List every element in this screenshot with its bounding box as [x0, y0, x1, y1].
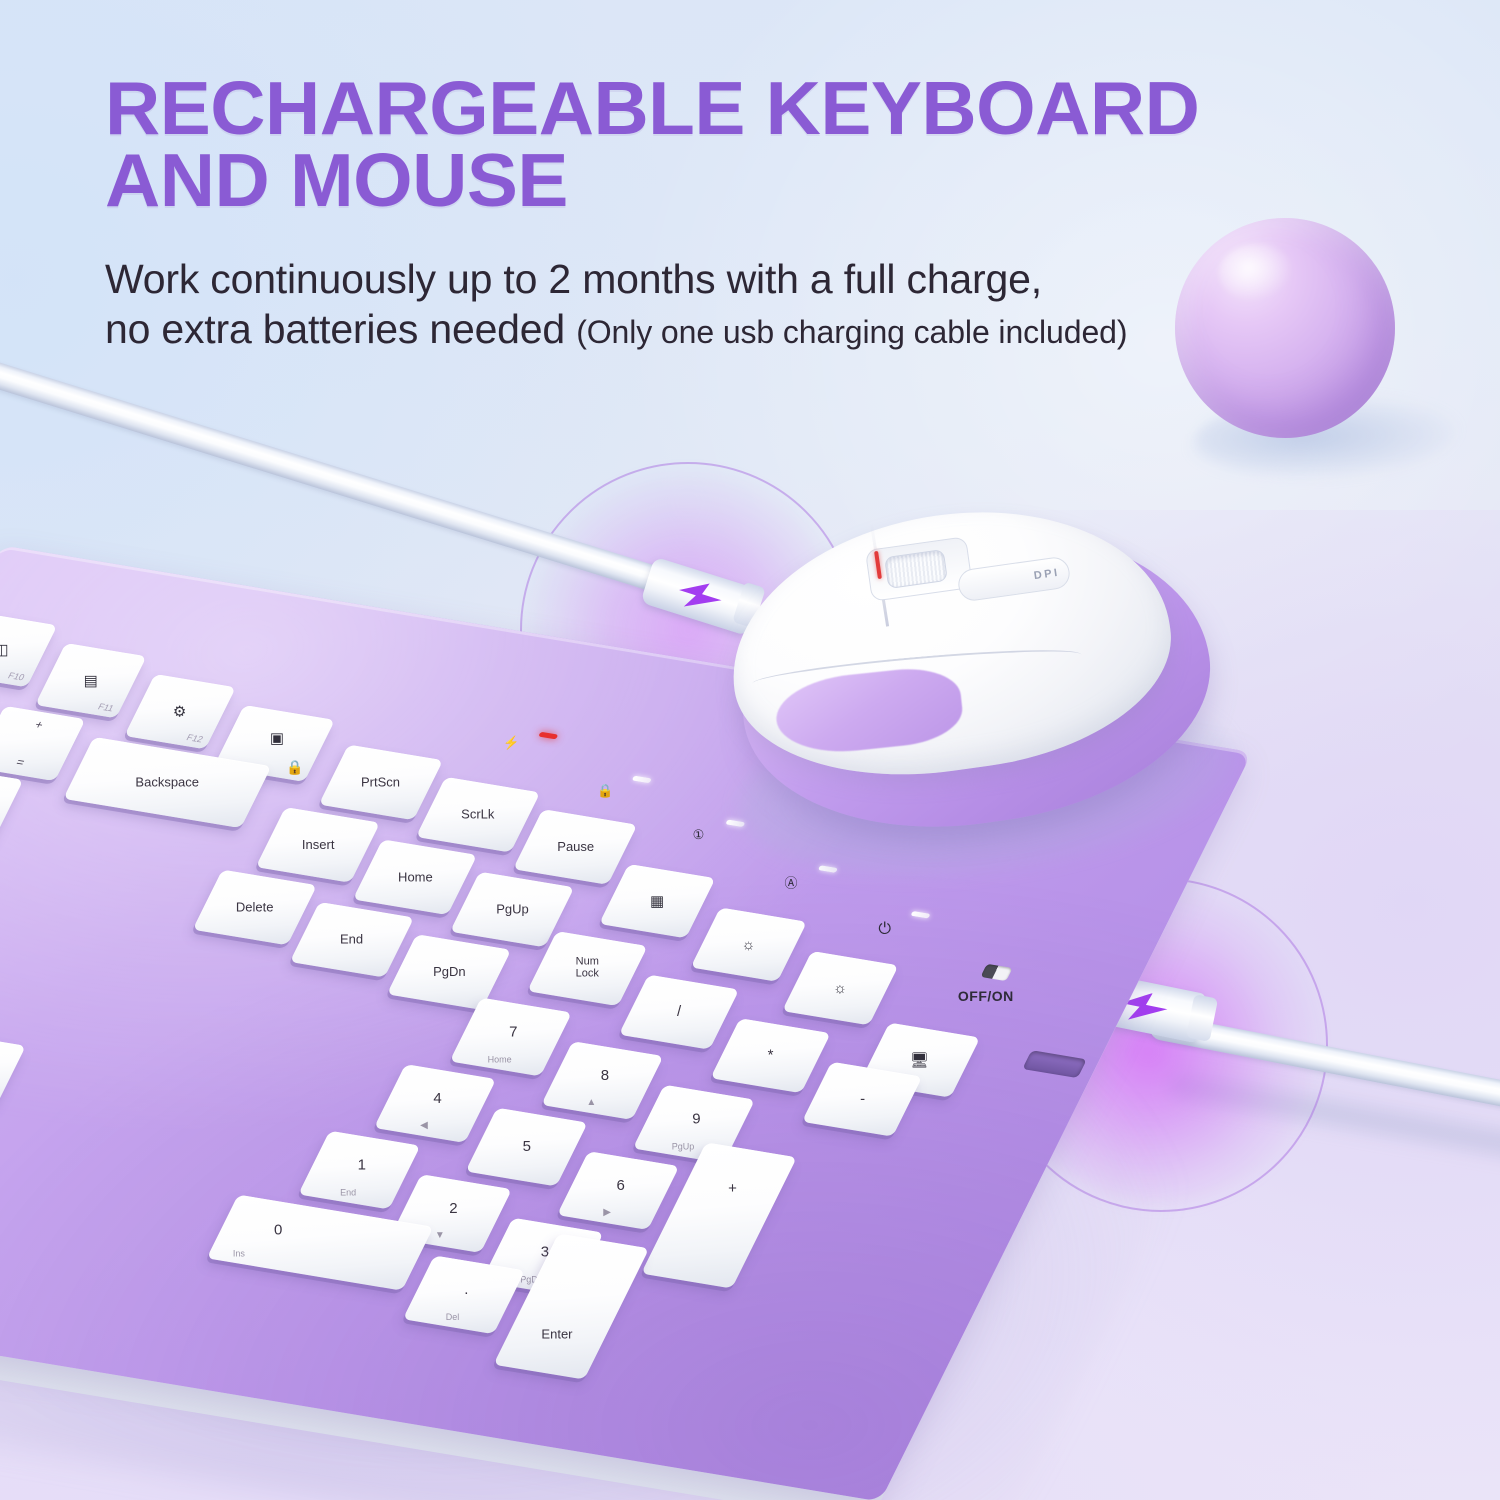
mouse[interactable]: DPI [700, 505, 1240, 865]
key-numpad-0-label: 0 [274, 1223, 282, 1239]
product-scene: ✉ F9 ◫ F10 ▤ F11 ⚙ F12 ▣ 🔒 0 _ - + [0, 0, 1500, 1500]
key-numpad-7-label: 7 [509, 1024, 517, 1040]
gear-icon: ⚙ [170, 703, 190, 719]
calculator-icon: ▦ [647, 893, 668, 909]
headline: RECHARGEABLE KEYBOARD AND MOUSE [105, 72, 1472, 216]
subheading-parenthetical: (Only one usb charging cable included) [576, 314, 1127, 350]
key-numpad-4-label: 4 [433, 1091, 441, 1107]
key-numpad-5-label: 5 [522, 1139, 530, 1155]
key-home-label: Home [398, 870, 433, 884]
key-numpad-1-label: 1 [357, 1157, 365, 1173]
subheading: Work continuously up to 2 months with a … [105, 254, 1445, 354]
window-icon: ◫ [0, 641, 12, 657]
key-scrlk-label: ScrLk [461, 808, 494, 822]
key-numpad-decimal-label: . [464, 1282, 468, 1298]
subheading-line-2-main: no extra batteries needed [105, 306, 576, 352]
key-f10-label: F10 [6, 670, 26, 682]
lock-screen-icon: 🖥 [907, 1052, 933, 1069]
key-prtscn-label: PrtScn [361, 776, 400, 790]
key-numpad-9-label: 9 [692, 1112, 700, 1128]
key-numpad-6-label: 6 [616, 1178, 624, 1194]
key-f11-label: F11 [96, 702, 115, 714]
key-numpad-divide-label: / [677, 1004, 681, 1020]
key-numlock-label: Num Lock [576, 957, 599, 980]
lock-icon: 🔒 [282, 758, 307, 777]
key-end-label: End [340, 933, 363, 947]
key-delete-label: Delete [236, 901, 274, 915]
key-equals-bottom: = [0, 749, 64, 776]
key-numpad-8-label: 8 [600, 1068, 608, 1084]
page-icon: ▤ [80, 672, 101, 688]
screenshot-icon: ▣ [267, 730, 288, 746]
mouse-dpi-label: DPI [1033, 567, 1060, 582]
key-insert-label: Insert [302, 838, 335, 852]
marketing-copy: RECHARGEABLE KEYBOARD AND MOUSE Work con… [105, 72, 1445, 354]
key-pgdn-label: PgDn [433, 965, 466, 979]
key-f12-label: F12 [185, 732, 205, 744]
subheading-line-2: no extra batteries needed (Only one usb … [105, 304, 1445, 354]
key-pgup-label: PgUp [496, 903, 529, 917]
brightness-down-icon: ☼ [830, 980, 851, 996]
key-numpad-minus-label: - [860, 1091, 865, 1107]
key-numpad-2-label: 2 [449, 1201, 457, 1217]
key-numpad-enter-label: Enter [542, 1328, 573, 1342]
brightness-up-icon: ☼ [739, 936, 760, 952]
key-pause-label: Pause [557, 840, 594, 854]
key-numpad-plus-label: + [728, 1181, 737, 1197]
subheading-line-1: Work continuously up to 2 months with a … [105, 254, 1445, 304]
key-backspace-label: Backspace [136, 776, 200, 790]
key-numpad-multiply-label: * [768, 1048, 774, 1064]
